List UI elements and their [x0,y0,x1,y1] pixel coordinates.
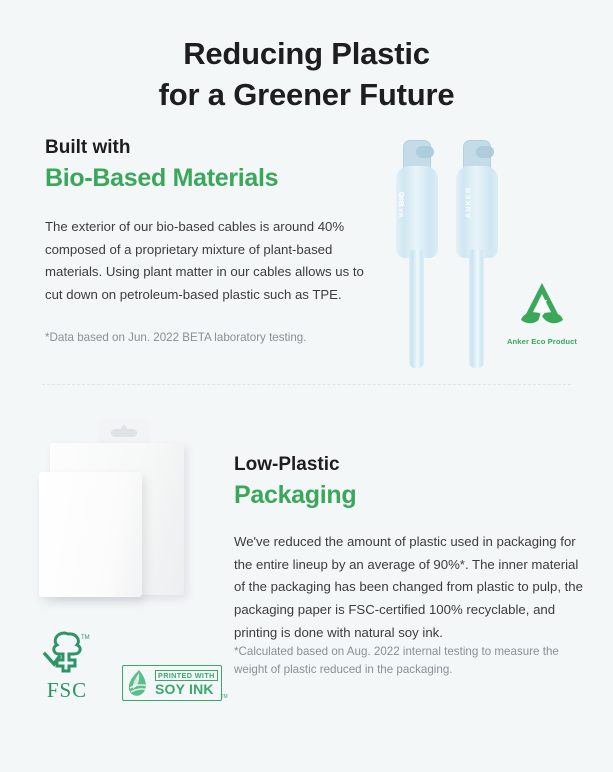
section-two-eyebrow: Low-Plastic [234,453,584,477]
section-one-text-block: Built with Bio-Based Materials The exter… [45,136,385,347]
section-low-plastic-packaging: Low-Plastic Packaging We've reduced the … [0,415,613,745]
fsc-label: FSC [38,680,96,701]
soy-ink-certification-logo: PRINTED WITH SOY INK TM [122,665,222,701]
section-one-eyebrow: Built with [45,136,385,160]
cable-connector-left: BIO BASED [396,140,438,258]
section-divider [42,384,571,385]
cable-wire-left [409,250,424,368]
anker-eco-product-badge: Anker Eco Product [502,280,582,346]
certification-logos: TM FSC PRINTED WITH SOY INK TM [38,630,222,701]
section-one-body: The exterior of our bio-based cables is … [45,216,385,307]
section-one-headline: Bio-Based Materials [45,162,385,195]
cable-connector-right: ANKER [456,140,498,258]
section-two-headline: Packaging [234,479,584,512]
soy-ink-droplet-leaf-icon [126,668,152,698]
section-two-body: We've reduced the amount of plastic used… [234,531,584,645]
section-one-footnote: *Data based on Jun. 2022 BETA laboratory… [45,329,385,347]
anker-eco-leaf-bolt-icon [516,280,568,330]
fsc-tree-checkmark-icon: TM [41,630,93,674]
soy-ink-text-block: PRINTED WITH SOY INK [155,670,218,696]
section-two-footnote: *Calculated based on Aug. 2022 internal … [234,643,592,680]
soy-ink-label-large: SOY INK [155,682,218,696]
page-title-line-2: for a Greener Future [0,75,613,116]
soy-ink-trademark: TM [220,694,227,700]
fsc-certification-logo: TM FSC [38,630,96,701]
usb-c-tip-slot [416,146,434,158]
connector-label-anker: ANKER [463,186,472,218]
page-title: Reducing Plastic for a Greener Future [0,0,613,116]
bio-based-cable-image: BIO BASED ANKER Anker Eco Product [390,132,575,372]
eco-badge-caption: Anker Eco Product [502,337,582,346]
connector-label-based: BASED [399,193,405,217]
section-bio-based-materials: Built with Bio-Based Materials The exter… [0,132,613,384]
connector-housing-right [456,166,498,258]
hang-tab-hole [111,429,137,437]
soy-ink-label-small: PRINTED WITH [155,670,218,681]
page-title-line-1: Reducing Plastic [0,34,613,75]
packaging-box-image [36,415,216,630]
cable-wire-right [469,250,484,368]
usb-c-tip-slot [476,146,494,158]
section-two-text-block: Low-Plastic Packaging We've reduced the … [234,453,584,645]
svg-text:TM: TM [81,635,90,641]
packaging-front-panel [39,472,142,597]
